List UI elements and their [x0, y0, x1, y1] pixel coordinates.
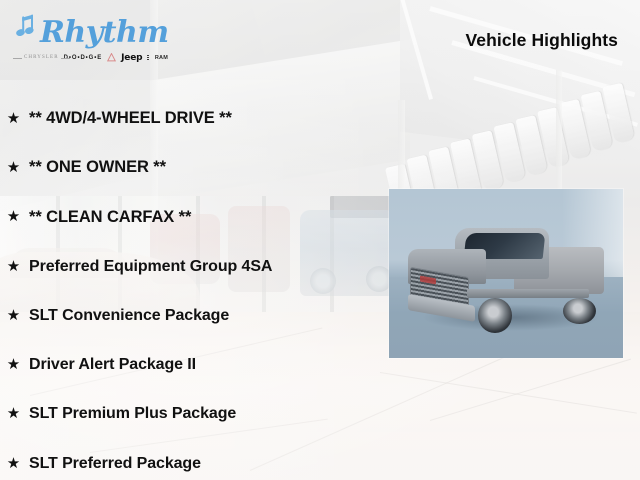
highlight-item-label: SLT Preferred Package	[29, 455, 201, 473]
dealer-logo[interactable]: Rhythm CHRYSLER D•O•D•G•E Jeep RAM	[16, 14, 168, 64]
highlight-item: ★** CLEAN CARFAX **	[6, 193, 386, 242]
star-bullet-icon: ★	[6, 308, 21, 323]
highlight-item: ★SLT Convenience Package	[6, 291, 386, 340]
star-bullet-icon: ★	[6, 111, 21, 126]
brand-strip: CHRYSLER D•O•D•G•E Jeep RAM	[16, 52, 168, 64]
star-bullet-icon: ★	[6, 209, 21, 224]
vehicle-highlights-list: ★** 4WD/4-WHEEL DRIVE **★** ONE OWNER **…	[6, 94, 386, 480]
star-bullet-icon: ★	[6, 456, 21, 471]
star-bullet-icon: ★	[6, 160, 21, 175]
music-note-icon	[16, 13, 38, 46]
highlight-item-label: ** 4WD/4-WHEEL DRIVE **	[29, 109, 232, 128]
slide-canvas: Rhythm CHRYSLER D•O•D•G•E Jeep RAM Vehic…	[0, 0, 640, 480]
highlight-item: ★** 4WD/4-WHEEL DRIVE **	[6, 94, 386, 143]
brand-chrysler: CHRYSLER	[24, 54, 59, 62]
brand-jeep: Jeep	[121, 54, 142, 62]
truck-front-wheel	[478, 298, 511, 333]
highlight-item: ★SLT Premium Plus Package	[6, 390, 386, 439]
highlight-item: ★Driver Alert Package II	[6, 340, 386, 389]
page-title: Vehicle Highlights	[465, 30, 618, 51]
highlight-item: ★** ONE OWNER **	[6, 143, 386, 192]
ram-head-icon	[147, 55, 149, 61]
star-bullet-icon: ★	[6, 357, 21, 372]
truck-rear-wheel	[563, 298, 596, 324]
jeep-mark-icon	[107, 49, 116, 67]
highlight-item-label: SLT Convenience Package	[29, 307, 229, 325]
highlight-item-label: ** CLEAN CARFAX **	[29, 208, 191, 227]
highlight-item-label: Driver Alert Package II	[29, 356, 196, 374]
vehicle-photo[interactable]	[389, 189, 623, 358]
truck-illustration	[408, 233, 605, 321]
star-bullet-icon: ★	[6, 406, 21, 421]
highlight-item: ★Preferred Equipment Group 4SA	[6, 242, 386, 291]
star-bullet-icon: ★	[6, 259, 21, 274]
highlight-item-label: ** ONE OWNER **	[29, 158, 166, 177]
highlight-item: ★SLT Preferred Package	[6, 439, 386, 480]
brand-ram: RAM	[155, 54, 168, 62]
dealer-name: Rhythm	[40, 18, 169, 48]
truck-rocker-panel	[467, 289, 589, 298]
highlight-item-label: SLT Premium Plus Package	[29, 405, 236, 423]
highlight-item-label: Preferred Equipment Group 4SA	[29, 258, 272, 276]
